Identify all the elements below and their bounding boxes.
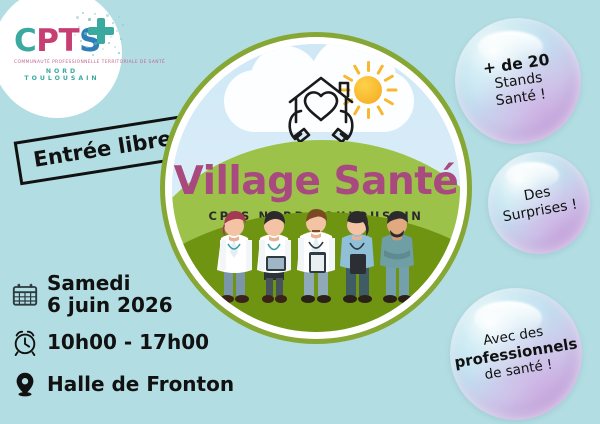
sun-ray	[383, 74, 394, 82]
cpts-tagline: COMMUNAUTÉ PROFESSIONNELLE TERRITORIALE …	[14, 60, 110, 66]
bubble-professionnels-text: Avec des professionnels de santé !	[451, 320, 581, 388]
house-heart-hands-icon	[268, 66, 374, 142]
page-title: Village Santé	[172, 162, 460, 201]
calendar-icon	[10, 279, 40, 309]
bubble-stands: + de 20 Stands Santé !	[455, 18, 581, 144]
sun-ray	[386, 89, 397, 92]
medical-plus-icon	[88, 18, 114, 44]
info-place-text: Halle de Fronton	[47, 373, 234, 395]
cpts-letter-c: C	[14, 26, 36, 57]
info-row-place: Halle de Fronton	[10, 369, 225, 399]
sun-ray	[383, 98, 394, 106]
alarm-clock-icon	[10, 327, 40, 357]
event-info: Samedi 6 juin 2026 10h00 - 17h00	[10, 272, 225, 403]
info-date-line1: Samedi	[47, 272, 173, 294]
info-row-time: 10h00 - 17h00	[10, 327, 225, 357]
cpts-logo-inner: CPTS COMMUNAUTÉ PROFESSIONNELLE TERRITOR…	[8, 22, 112, 84]
info-date-text: Samedi 6 juin 2026	[47, 272, 173, 317]
health-professionals-illustration	[208, 200, 424, 310]
bubble-stands-text: + de 20 Stands Santé !	[481, 51, 554, 111]
poster: CPTS COMMUNAUTÉ PROFESSIONNELLE TERRITOR…	[0, 0, 600, 424]
location-pin-icon	[10, 369, 40, 399]
info-row-date: Samedi 6 juin 2026	[10, 272, 225, 317]
bubble-surprises: Des Surprises !	[488, 152, 590, 254]
cpts-letter-p: P	[36, 26, 58, 57]
entree-libre-label: Entrée libre	[32, 126, 174, 172]
cpts-subtitle: NORD TOULOUSAIN	[14, 68, 110, 82]
bubble-professionnels: Avec des professionnels de santé !	[450, 288, 582, 420]
cpts-logo: CPTS COMMUNAUTÉ PROFESSIONNELLE TERRITOR…	[0, 0, 122, 118]
sun-ray	[376, 105, 384, 116]
sun-ray	[376, 64, 384, 75]
info-time-text: 10h00 - 17h00	[47, 331, 209, 353]
bubble-surprises-text: Des Surprises !	[499, 180, 579, 226]
info-date-line2: 6 juin 2026	[47, 294, 173, 316]
